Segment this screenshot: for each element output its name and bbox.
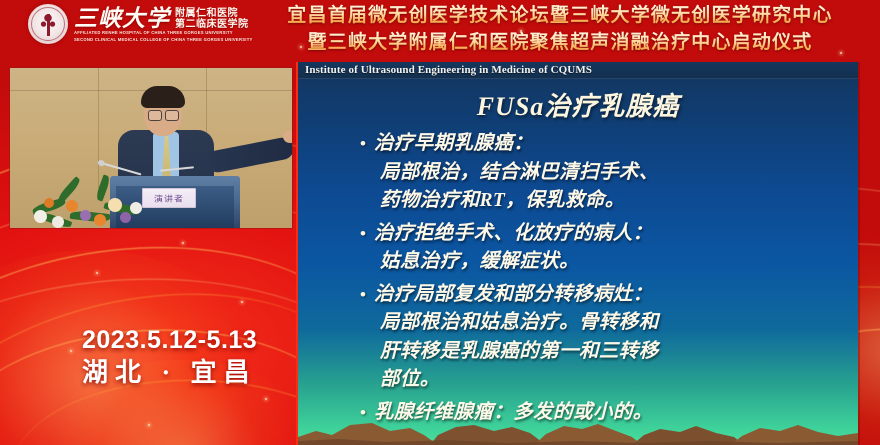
spark-5 xyxy=(148,424,150,426)
spark-2 xyxy=(241,301,243,303)
bloom-orange-3 xyxy=(44,198,54,208)
bullet-line: 局部根治和姑息治疗。骨转移和 xyxy=(360,309,855,338)
bullet-line: 局部根治，结合淋巴清扫手术、 xyxy=(360,159,855,188)
logo-text-group: 三峡大学 附属仁和医院 第二临床医学院 AFFILIATED RENHE HOS… xyxy=(74,5,253,42)
bullet-dot-icon: • xyxy=(360,220,366,248)
event-location: 湖北 · 宜昌 xyxy=(82,356,257,390)
slide-terrain-graphic xyxy=(298,411,858,445)
bloom-cream-1 xyxy=(108,198,122,212)
bloom-orange-2 xyxy=(94,214,106,226)
speaker-hair xyxy=(141,86,185,108)
event-date-location: 2023.5.12-5.13 湖北 · 宜昌 xyxy=(82,325,257,390)
slide-title: FUSa治疗乳腺癌 xyxy=(298,86,858,123)
speaker-hand xyxy=(283,130,292,143)
bullet-line: 治疗拒绝手术、化放疗的病人： xyxy=(374,220,653,249)
spark-6 xyxy=(70,350,72,352)
bullet-line: 肝转移是乳腺癌的第一和三转移 xyxy=(360,338,855,367)
institution-logo: 三峡大学 附属仁和医院 第二临床医学院 AFFILIATED RENHE HOS… xyxy=(28,4,253,44)
hospital-name-group: 附属仁和医院 第二临床医学院 xyxy=(175,9,249,30)
logo-english-line1: AFFILIATED RENHE HOSPITAL OF CHINA THREE… xyxy=(74,30,253,36)
podium-nameplate: 演讲者 xyxy=(142,188,196,208)
banner-title-line2: 暨三峡大学附属仁和医院聚焦超声消融治疗中心启动仪式 xyxy=(240,29,880,56)
bullet-item: • 治疗早期乳腺癌： 局部根治，结合淋巴清扫手术、 药物治疗和RT，保乳救命。 xyxy=(360,130,855,216)
bloom-orange-1 xyxy=(66,200,78,212)
logo-main-row: 三峡大学 附属仁和医院 第二临床医学院 xyxy=(74,7,253,30)
bloom-white-2 xyxy=(52,216,64,228)
banner-title-group: 宜昌首届微无创医学技术论坛暨三峡大学微无创医学研究中心 暨三峡大学附属仁和医院聚… xyxy=(240,2,880,56)
nameplate-text: 演讲者 xyxy=(154,192,184,204)
bullet-first-row: • 治疗拒绝手术、化放疗的病人： xyxy=(360,220,855,249)
bullet-item: • 治疗局部复发和部分转移病灶： 局部根治和姑息治疗。骨转移和 肝转移是乳腺癌的… xyxy=(360,281,855,395)
wall-seam-1 xyxy=(98,68,99,188)
slide-bullet-list: • 治疗早期乳腺癌： 局部根治，结合淋巴清扫手术、 药物治疗和RT，保乳救命。 … xyxy=(360,130,855,431)
hospital-name-line2: 第二临床医学院 xyxy=(175,20,249,30)
bloom-white-3 xyxy=(130,202,142,214)
bullet-dot-icon: • xyxy=(360,281,366,309)
speaker-glasses-icon xyxy=(148,110,179,119)
bloom-purple-1 xyxy=(80,210,91,221)
bullet-line: 治疗局部复发和部分转移病灶： xyxy=(374,281,653,310)
bullet-line: 药物治疗和RT，保乳救命。 xyxy=(360,187,855,216)
university-crest-icon xyxy=(28,4,68,44)
bullet-item: • 治疗拒绝手术、化放疗的病人： 姑息治疗，缓解症状。 xyxy=(360,220,855,277)
speaker-video-inset[interactable]: 演讲者 xyxy=(10,68,292,228)
spark-1 xyxy=(182,242,184,244)
slide-header-bar: Institute of Ultrasound Engineering in M… xyxy=(298,62,858,79)
bullet-dot-icon: • xyxy=(360,130,366,158)
banner-title-line1: 宜昌首届微无创医学技术论坛暨三峡大学微无创医学研究中心 xyxy=(240,2,880,29)
bloom-white-1 xyxy=(34,210,47,223)
bullet-line: 治疗早期乳腺癌： xyxy=(374,130,533,159)
crest-ring xyxy=(31,7,65,41)
spark-4 xyxy=(265,398,267,400)
spark-3 xyxy=(96,272,98,274)
bullet-line: 姑息治疗，缓解症状。 xyxy=(360,248,855,277)
university-name: 三峡大学 xyxy=(74,7,170,30)
bullet-first-row: • 治疗局部复发和部分转移病灶： xyxy=(360,281,855,310)
logo-english-line2: SECOND CLINICAL MEDICAL COLLEGE OF CHINA… xyxy=(74,37,253,43)
bullet-first-row: • 治疗早期乳腺癌： xyxy=(360,130,855,159)
broadcast-stage: 三峡大学 附属仁和医院 第二临床医学院 AFFILIATED RENHE HOS… xyxy=(0,0,880,445)
right-red-margin xyxy=(858,0,880,445)
event-banner: 三峡大学 附属仁和医院 第二临床医学院 AFFILIATED RENHE HOS… xyxy=(0,0,880,58)
slide-header-text: Institute of Ultrasound Engineering in M… xyxy=(298,64,592,76)
bullet-line: 部位。 xyxy=(360,366,855,395)
presentation-slide[interactable]: Institute of Ultrasound Engineering in M… xyxy=(298,62,858,445)
flower-arrangement xyxy=(30,180,150,228)
event-date: 2023.5.12-5.13 xyxy=(82,325,257,356)
bloom-purple-2 xyxy=(120,212,131,223)
hospital-name-line1: 附属仁和医院 xyxy=(175,9,249,19)
